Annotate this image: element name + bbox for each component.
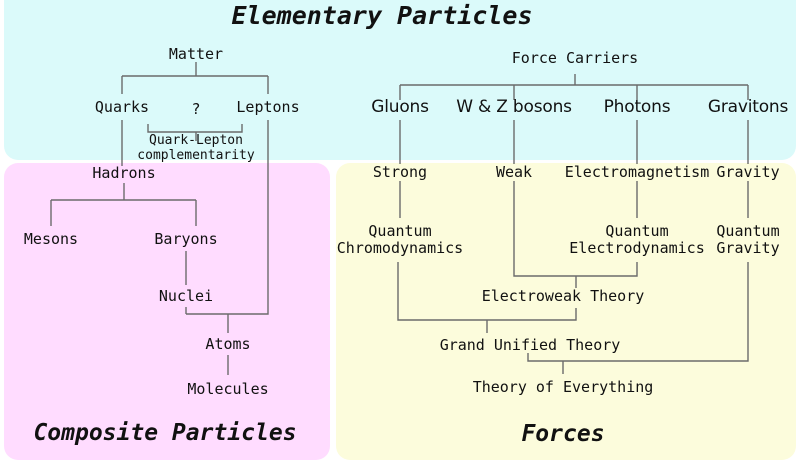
node-mesons: Mesons [24, 231, 78, 248]
node-quantum-electrodynamics: Quantum Electrodynamics [569, 223, 704, 257]
node-electroweak-theory: Electroweak Theory [482, 288, 645, 305]
node-gravitons: Gravitons [708, 99, 788, 116]
node-quantum-chromodynamics: Quantum Chromodynamics [337, 223, 463, 257]
node-weak: Weak [496, 164, 532, 181]
node-grand-unified-theory: Grand Unified Theory [440, 337, 621, 354]
panel-composite-particles [4, 163, 330, 460]
node-baryons: Baryons [154, 231, 217, 248]
node-gluons: Gluons [371, 99, 429, 116]
node-electromagnetism: Electromagnetism [565, 164, 710, 181]
node-matter: Matter [169, 46, 223, 63]
node-nuclei: Nuclei [159, 288, 213, 305]
node-atoms: Atoms [205, 336, 250, 353]
diagram-canvas: Elementary Particles Matter Quarks ? Lep… [0, 0, 800, 464]
node-strong: Strong [373, 164, 427, 181]
node-gravity: Gravity [716, 164, 779, 181]
node-force-carriers: Force Carriers [512, 50, 638, 67]
node-quantum-gravity: Quantum Gravity [716, 223, 779, 257]
node-leptons: Leptons [236, 99, 299, 116]
node-quarks: Quarks [95, 99, 149, 116]
node-photons: Photons [604, 99, 671, 116]
title-elementary-particles: Elementary Particles [231, 1, 532, 30]
title-forces: Forces [521, 421, 604, 447]
node-w-z-bosons: W & Z bosons [456, 99, 572, 116]
node-quark-lepton-complementarity: Quark-Lepton complementarity [137, 133, 254, 163]
node-molecules: Molecules [187, 381, 268, 398]
node-hadrons: Hadrons [92, 165, 155, 182]
node-theory-of-everything: Theory of Everything [473, 379, 654, 396]
node-question-mark: ? [191, 101, 200, 118]
title-composite-particles: Composite Particles [33, 420, 296, 446]
panel-forces [336, 163, 796, 460]
